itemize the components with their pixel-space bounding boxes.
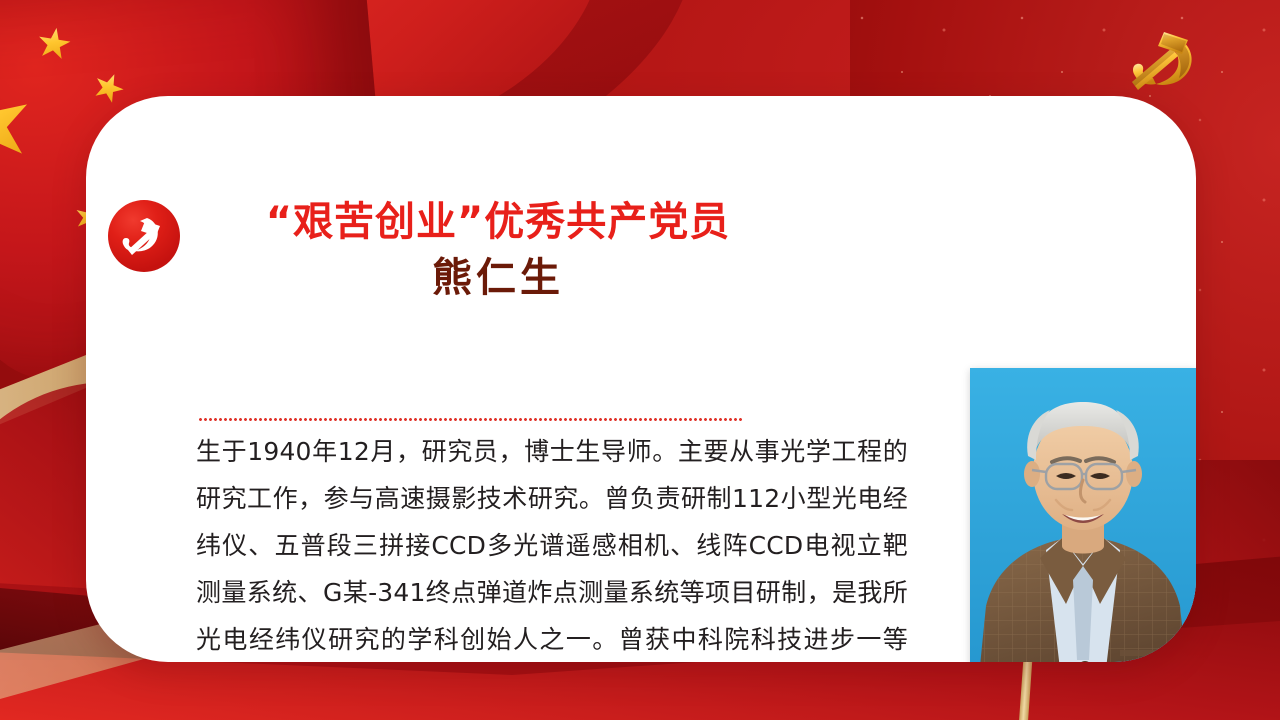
hammer-sickle-icon [108, 200, 180, 272]
hammer-sickle-emblem-icon [1106, 26, 1218, 104]
slide-root: “艰苦创业”优秀共产党员 熊仁生 生于1940年12月，研究员，博士生导师。主要… [0, 0, 1280, 720]
portrait-photo [970, 368, 1196, 662]
biography-text: 生于1940年12月，研究员，博士生导师。主要从事光学工程的研究工作，参与高速摄… [196, 428, 908, 662]
flag-star-small-2 [89, 68, 128, 107]
flag-star-large [0, 76, 40, 176]
content-card: “艰苦创业”优秀共产党员 熊仁生 生于1940年12月，研究员，博士生导师。主要… [86, 96, 1196, 662]
title-group: “艰苦创业”优秀共产党员 熊仁生 [194, 196, 808, 306]
flag-star-small-1 [35, 25, 73, 63]
page-title: “艰苦创业”优秀共产党员 [194, 196, 802, 248]
card-header: “艰苦创业”优秀共产党员 熊仁生 [108, 196, 808, 306]
divider [198, 418, 744, 421]
person-name: 熊仁生 [194, 250, 802, 306]
